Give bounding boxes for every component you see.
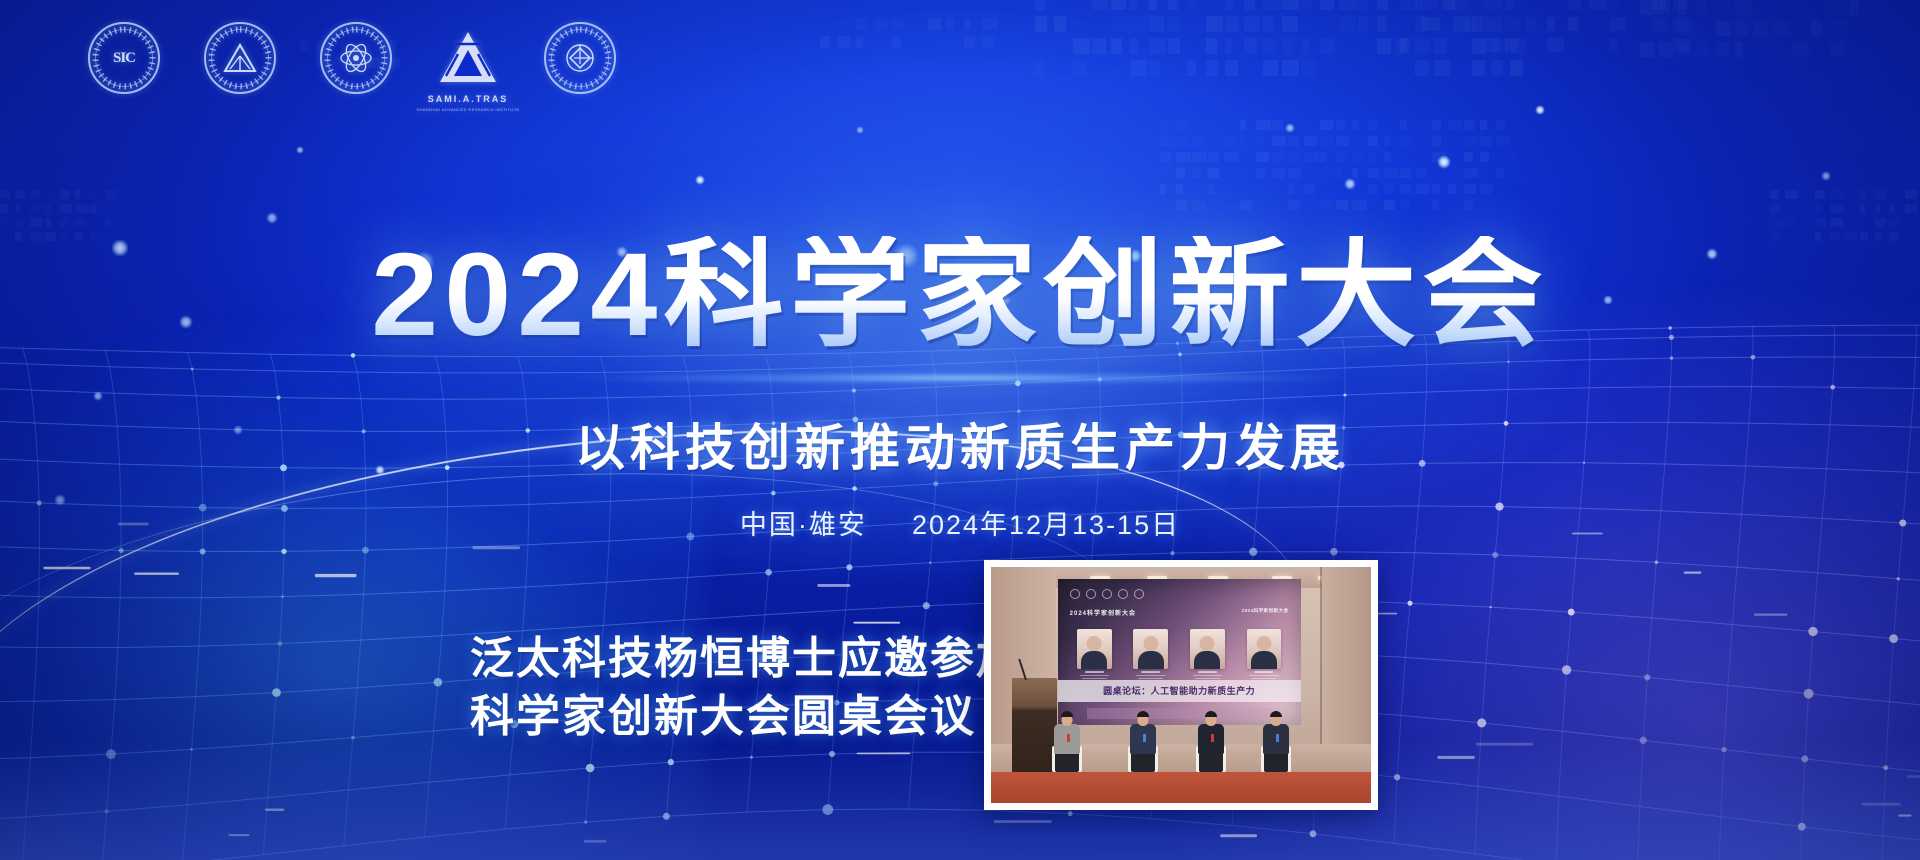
location-text: 中国·雄安	[740, 510, 867, 540]
photo-screen-portraits	[1077, 629, 1281, 680]
university-seal-logo	[544, 22, 616, 94]
sparkle	[695, 175, 705, 185]
sic-seal-logo: SIC	[88, 22, 160, 94]
photo-podium	[1012, 678, 1058, 772]
panel-discussion-photo: 2024科学家创新大会 2024科学家创新大会 圆桌论坛：人工智能助力新质生产力	[984, 560, 1378, 810]
sparkle	[93, 391, 103, 401]
photo-screen-footer	[1087, 708, 1272, 720]
sparkle	[296, 146, 304, 154]
sparkle	[1437, 155, 1451, 169]
sparkle	[1535, 105, 1545, 115]
screen-logo-dot-icon	[1118, 589, 1128, 599]
photo-screen-logo-row	[1070, 589, 1144, 599]
photo-screen-banner-text: 圆桌论坛：人工智能助力新质生产力	[1103, 684, 1255, 697]
caption-line-1: 泛太科技杨恒博士应邀参加	[470, 630, 970, 688]
sparkle	[1344, 178, 1356, 190]
sami-triangle-logo: SAMI.A.TRAS SHANGHAI ADVANCED RESEARCH I…	[436, 28, 500, 88]
conference-poster: SIC	[0, 0, 1920, 860]
screen-logo-dot-icon	[1070, 589, 1080, 599]
location-date-line: 中国·雄安 2024年12月13-15日	[0, 503, 1920, 542]
sparkle	[266, 212, 278, 224]
caption-line-2: 科学家创新大会圆桌会议	[470, 688, 970, 746]
sami-triangle-glyph	[436, 28, 500, 88]
sami-logo-label: SAMI.A.TRAS	[428, 94, 509, 104]
screen-logo-dot-icon	[1086, 589, 1096, 599]
sparkle	[1285, 123, 1295, 133]
photo-screen-portrait	[1190, 629, 1225, 680]
photo-screen-portrait	[1133, 629, 1168, 680]
headline-block: 2024科学家创新大会	[0, 236, 1920, 354]
main-title: 2024科学家创新大会	[0, 236, 1920, 354]
photo-content: 2024科学家创新大会 2024科学家创新大会 圆桌论坛：人工智能助力新质生产力	[991, 567, 1371, 803]
date-text: 2024年12月13-15日	[912, 510, 1180, 540]
photo-screen-banner: 圆桌论坛：人工智能助力新质生产力	[1058, 680, 1301, 702]
event-caption: 泛太科技杨恒博士应邀参加 科学家创新大会圆桌会议	[470, 630, 970, 746]
atom-seal-logo	[320, 22, 392, 94]
triangle-seal-logo	[204, 22, 276, 94]
title-underglow	[570, 372, 1350, 384]
sami-logo-sublabel: SHANGHAI ADVANCED RESEARCH INSTITUTE	[416, 107, 519, 112]
sic-seal-text: SIC	[113, 50, 135, 67]
photo-stage	[991, 772, 1371, 803]
photo-led-screen: 2024科学家创新大会 2024科学家创新大会 圆桌论坛：人工智能助力新质生产力	[1058, 579, 1301, 725]
photo-screen-title: 2024科学家创新大会	[1070, 608, 1136, 617]
photo-screen-portrait	[1077, 629, 1112, 680]
partner-logo-row: SIC	[88, 22, 616, 94]
sparkle	[1821, 171, 1831, 181]
photo-screen-title-right: 2024科学家创新大会	[1242, 608, 1289, 614]
screen-logo-dot-icon	[1102, 589, 1112, 599]
photo-screen-portrait	[1247, 629, 1282, 680]
screen-logo-dot-icon	[1134, 589, 1144, 599]
sub-title: 以科技创新推动新质生产力发展	[0, 408, 1920, 480]
sparkle	[856, 126, 864, 134]
